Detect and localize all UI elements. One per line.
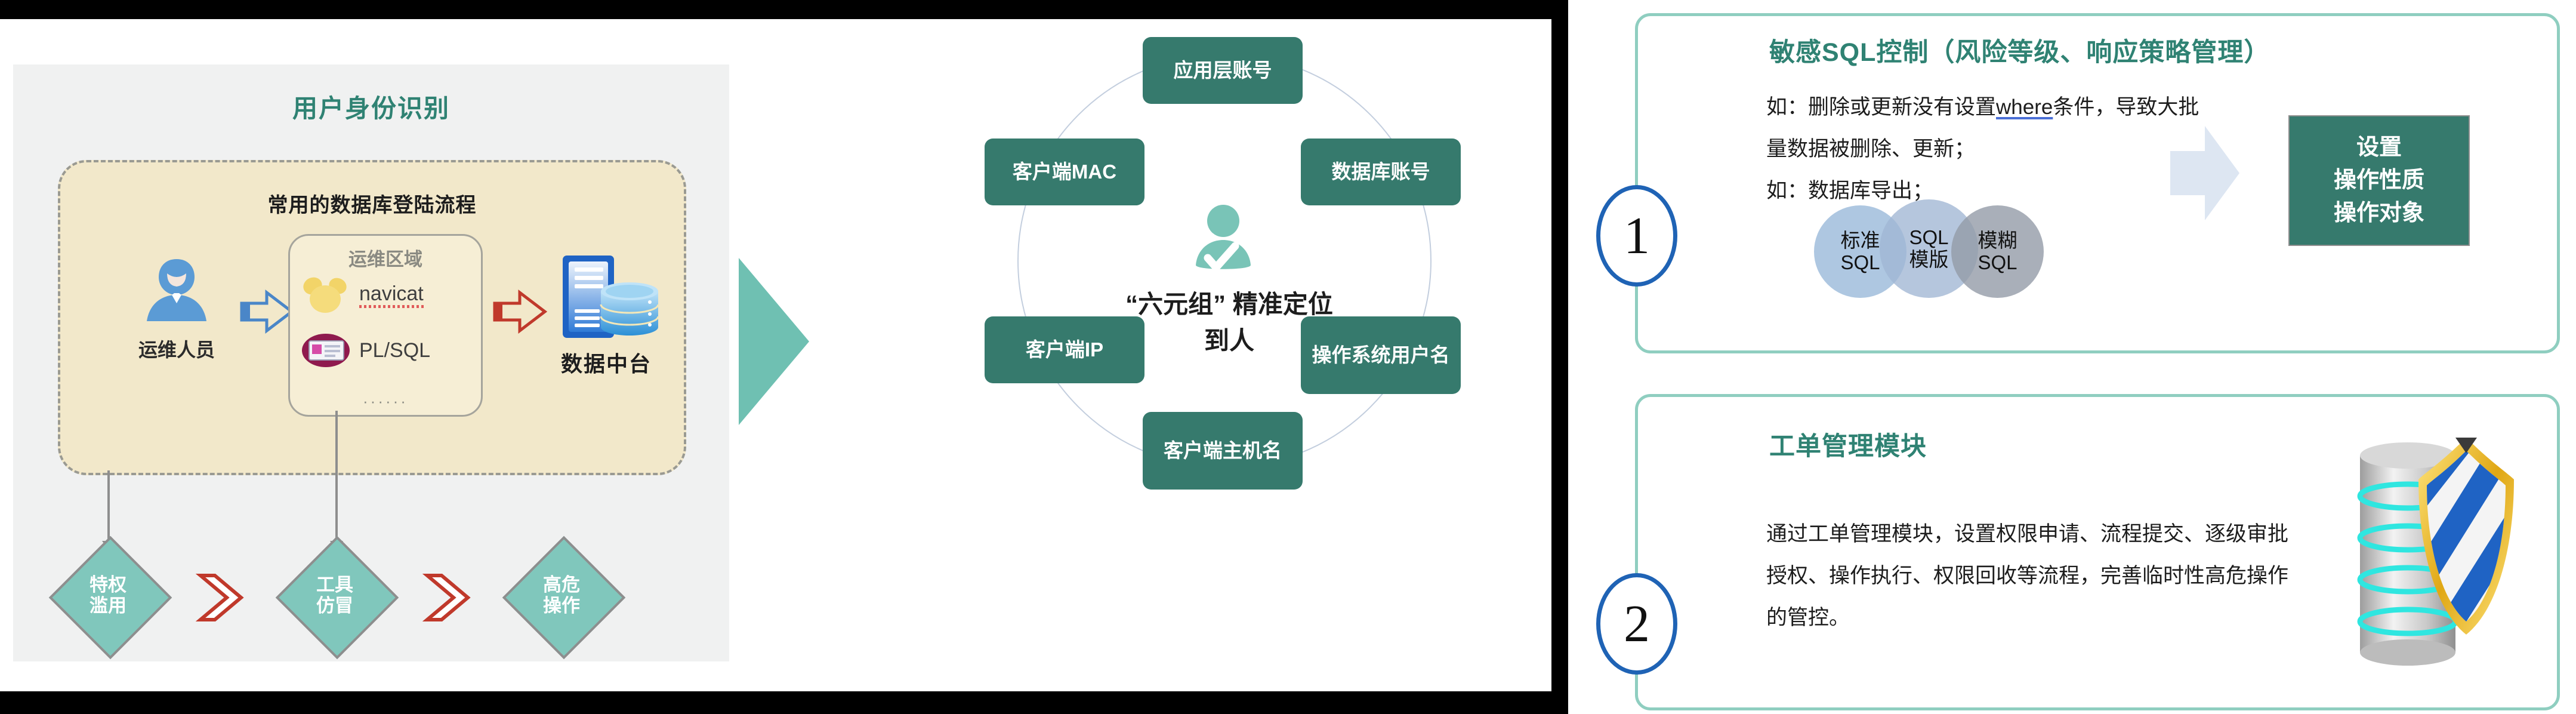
- set-box-line2: 操作性质: [2334, 164, 2424, 197]
- card-ticket-management: 工单管理模块 通过工单管理模块，设置权限申请、流程提交、逐级审批 授权、操作执行…: [1635, 394, 2560, 710]
- venn-label-line2: SQL: [1977, 251, 2017, 273]
- card2-body-line3: 的管控。: [1766, 597, 2369, 639]
- tool-label-navicat: navicat: [359, 282, 424, 306]
- venn-label-line1: SQL: [1909, 226, 1948, 248]
- risk-diamond-label-0: 特权 滥用: [48, 575, 168, 616]
- card1-line1-suffix: 条件，导致大批: [2053, 96, 2199, 119]
- card1-line1-prefix: 如：删除或更新没有设置: [1766, 96, 1996, 119]
- diagram-center-text: “六元组” 精准定位 到人: [1062, 287, 1396, 359]
- verified-user-icon: [1187, 203, 1259, 279]
- card1-keyword-where: where: [1996, 96, 2053, 119]
- navicat-logo-icon: [301, 273, 351, 315]
- database-server-icon: [550, 252, 663, 341]
- ops-person-icon: [141, 252, 212, 328]
- risk-label-line1: 特权: [90, 574, 127, 595]
- venn-label-line2: 模版: [1909, 248, 1948, 270]
- venn-label-line1: 标准: [1840, 229, 1880, 251]
- set-box-line1: 设置: [2356, 131, 2402, 164]
- venn-label-line2: SQL: [1840, 251, 1880, 273]
- tuple-node-client-host[interactable]: 客户端主机名: [1143, 412, 1303, 490]
- ops-person-group: 运维人员: [108, 252, 245, 362]
- chevron-icon-0: [192, 571, 246, 627]
- connector-line-1: [107, 470, 110, 542]
- center-text-line2: 到人: [1204, 327, 1254, 355]
- center-text-line1: “六元组” 精准定位: [1125, 290, 1333, 318]
- card2-body-line1: 通过工单管理模块，设置权限申请、流程提交、逐级审批: [1766, 513, 2369, 555]
- user-identity-panel: 用户身份识别 常用的数据库登陆流程 运维人员 运维区域: [13, 64, 729, 661]
- card2-body-line2: 授权、操作执行、权限回收等流程，完善临时性高危操作: [1766, 555, 2369, 597]
- venn-label-line1: 模糊: [1977, 229, 2017, 251]
- tool-navicat-row: navicat: [301, 273, 424, 315]
- venn-circle-fuzzy-sql: 模糊SQL: [1951, 205, 2044, 298]
- database-shield-icon: [2348, 432, 2527, 682]
- tool-label-plsql: PL/SQL: [359, 339, 430, 362]
- tool-plsql-row: PL/SQL: [301, 331, 430, 370]
- teal-arrow-icon: [739, 258, 809, 425]
- risk-label-line1: 工具: [316, 574, 353, 595]
- tuple-node-db-account[interactable]: 数据库账号: [1301, 139, 1461, 205]
- risk-diamond-label-2: 高危 操作: [502, 575, 621, 616]
- set-box-line3: 操作对象: [2334, 197, 2424, 230]
- ops-area-ellipsis: ······: [290, 392, 481, 411]
- tuple-node-client-mac[interactable]: 客户端MAC: [985, 139, 1144, 205]
- ops-person-label: 运维人员: [108, 335, 245, 362]
- risk-diamond-label-1: 工具 仿冒: [275, 575, 394, 616]
- risk-label-line2: 仿冒: [316, 595, 353, 616]
- card2-body: 通过工单管理模块，设置权限申请、流程提交、逐级审批 授权、操作执行、权限回收等流…: [1766, 513, 2369, 639]
- chevron-icon-1: [419, 571, 473, 627]
- page-title: 用户身份识别: [13, 88, 729, 125]
- letterbox-bar-right: [1551, 0, 1568, 714]
- step-badge-1: 1: [1596, 185, 1677, 287]
- six-tuple-diagram: 应用层账号 数据库账号 操作系统用户名 客户端主机名 客户端IP 客户端MAC …: [913, 0, 1545, 714]
- card2-title: 工单管理模块: [1769, 426, 1927, 463]
- plsql-logo-icon: [301, 331, 351, 370]
- db-login-flow-container: 常用的数据库登陆流程 运维人员 运维区域: [58, 160, 686, 475]
- blue-arrow-icon: [239, 288, 294, 338]
- data-platform-group: 数据中台: [538, 252, 675, 378]
- step-badge-2: 2: [1596, 573, 1677, 675]
- connector-line-2: [335, 411, 338, 542]
- ops-area-box: 运维区域 navicat PL/SQL: [288, 234, 483, 417]
- risk-label-line1: 高危: [543, 574, 580, 595]
- risk-label-line2: 滥用: [90, 595, 127, 616]
- risk-label-line2: 操作: [543, 595, 580, 616]
- card1-title: 敏感SQL控制（风险等级、响应策略管理）: [1769, 32, 2270, 69]
- set-operation-box: 设置 操作性质 操作对象: [2288, 115, 2470, 246]
- card-sensitive-sql-control: 敏感SQL控制（风险等级、响应策略管理） 如：删除或更新没有设置where条件，…: [1635, 13, 2560, 353]
- data-platform-label: 数据中台: [538, 347, 675, 378]
- ops-area-title: 运维区域: [290, 244, 481, 271]
- flow-title: 常用的数据库登陆流程: [60, 189, 684, 218]
- tuple-node-app-account[interactable]: 应用层账号: [1143, 37, 1303, 104]
- pale-block-arrow-icon: [2169, 116, 2241, 233]
